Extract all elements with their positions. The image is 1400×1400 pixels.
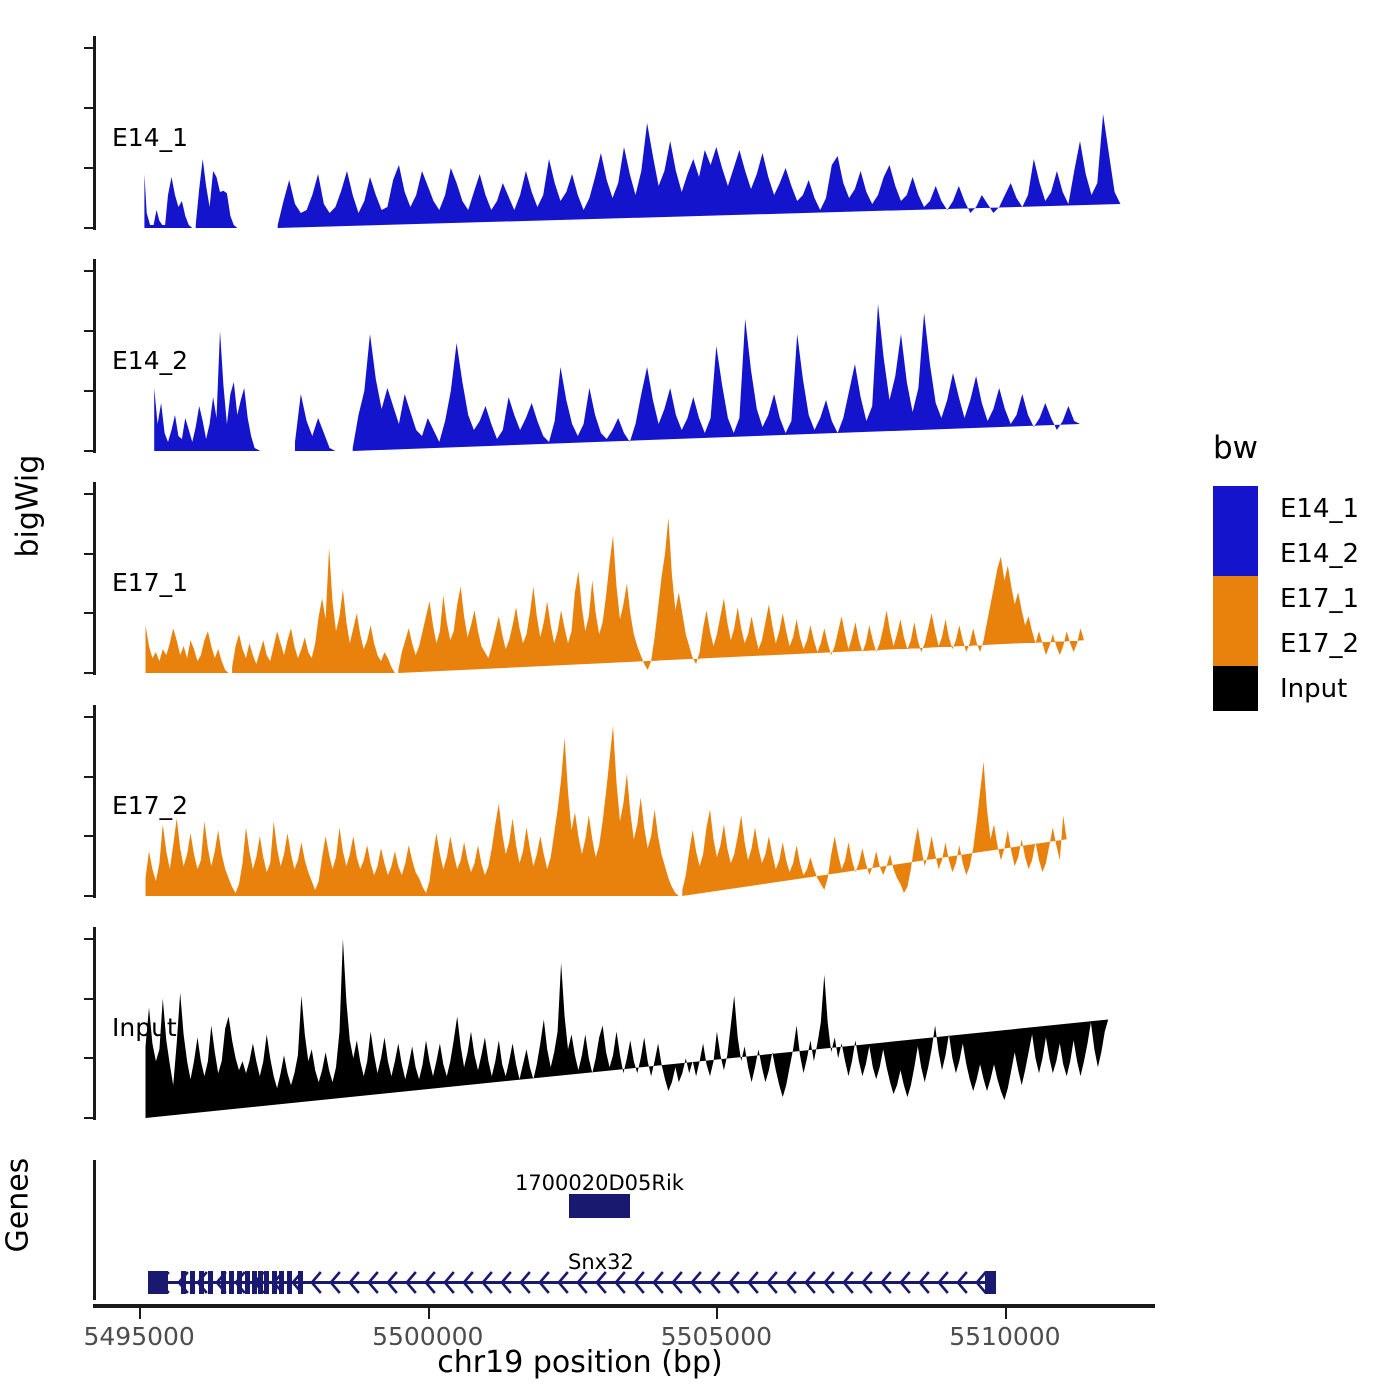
- legend-item-e14_2[interactable]: E14_2: [1213, 531, 1393, 576]
- x-tick-label: 5495000: [49, 1322, 229, 1351]
- gene-exon-snx32: [252, 1271, 257, 1294]
- y-axis-line: [93, 927, 96, 1120]
- y-tick: [84, 612, 93, 614]
- gene-exon-snx32: [237, 1271, 242, 1294]
- y-tick: [84, 1057, 93, 1059]
- y-tick: [84, 167, 93, 169]
- y-tick: [84, 330, 93, 332]
- legend-swatch-e17_2: [1213, 621, 1258, 666]
- y-axis-line: [93, 482, 96, 675]
- gene-exon-snx32: [229, 1271, 234, 1294]
- y-tick: [84, 1117, 93, 1119]
- y-tick: [84, 835, 93, 837]
- gene-exon-snx32: [208, 1271, 213, 1294]
- legend-label-e17_1: E17_1: [1280, 584, 1359, 614]
- y-tick: [84, 716, 93, 718]
- legend-items: E14_1E14_2E17_1E17_2Input: [1213, 486, 1393, 711]
- genes-axis-line: [93, 1160, 96, 1300]
- x-tick-label: 5500000: [338, 1322, 518, 1351]
- y-tick: [84, 47, 93, 49]
- track-label-e17_1: E17_1: [112, 568, 188, 597]
- legend-label-e14_1: E14_1: [1280, 494, 1359, 524]
- y-tick: [84, 450, 93, 452]
- legend-item-e17_1[interactable]: E17_1: [1213, 576, 1393, 621]
- y-tick: [84, 227, 93, 229]
- legend-label-e14_2: E14_2: [1280, 539, 1359, 569]
- y-tick: [84, 270, 93, 272]
- y-tick: [84, 107, 93, 109]
- genome-browser-figure: bigWig Genes chr19 position (bp) 3210E14…: [0, 0, 1400, 1400]
- y-tick: [84, 553, 93, 555]
- gene-exon-snx32: [181, 1271, 186, 1294]
- gene-exon-snx32: [264, 1271, 269, 1294]
- y-axis-line: [93, 705, 96, 898]
- gene-exon-snx32: [985, 1271, 997, 1294]
- y-axis-line: [93, 259, 96, 453]
- x-tick-label: 5510000: [915, 1322, 1095, 1351]
- legend-item-e17_2[interactable]: E17_2: [1213, 621, 1393, 666]
- gene-exon-snx32: [298, 1271, 303, 1294]
- track-label-e17_2: E17_2: [112, 791, 188, 820]
- legend-title: bw: [1213, 430, 1393, 466]
- legend-swatch-e14_2: [1213, 531, 1258, 576]
- track-label-input: Input: [112, 1013, 177, 1042]
- gene-exon-snx32: [199, 1271, 204, 1294]
- legend-swatch-e14_1: [1213, 486, 1258, 531]
- y-tick: [84, 998, 93, 1000]
- y-axis-label-bigwig: bigWig: [11, 518, 46, 558]
- gene-label-1700020d05rik: 1700020D05Rik: [515, 1171, 684, 1195]
- y-axis-line: [93, 36, 96, 230]
- gene-exon-snx32: [190, 1271, 195, 1294]
- y-tick: [84, 938, 93, 940]
- legend-item-input[interactable]: Input: [1213, 666, 1393, 711]
- x-tick-label: 5505000: [626, 1322, 806, 1351]
- y-tick: [84, 895, 93, 897]
- x-tick: [716, 1308, 718, 1319]
- gene-label-snx32: Snx32: [568, 1250, 634, 1274]
- y-tick: [84, 672, 93, 674]
- gene-exon-snx32: [287, 1271, 292, 1294]
- legend: bw E14_1E14_2E17_1E17_2Input: [1213, 430, 1393, 711]
- gene-exon-snx32: [258, 1271, 263, 1294]
- gene-feature-1700020d05rik[interactable]: [569, 1194, 630, 1218]
- gene-exon-snx32: [221, 1271, 226, 1294]
- y-tick: [84, 776, 93, 778]
- gene-exon-snx32: [245, 1271, 250, 1294]
- gene-exon-snx32: [148, 1271, 168, 1294]
- track-label-e14_2: E14_2: [112, 346, 188, 375]
- x-tick: [428, 1308, 430, 1319]
- legend-label-e17_2: E17_2: [1280, 629, 1359, 659]
- track-label-e14_1: E14_1: [112, 123, 188, 152]
- x-tick: [1005, 1308, 1007, 1319]
- legend-item-e14_1[interactable]: E14_1: [1213, 486, 1393, 531]
- legend-swatch-input: [1213, 666, 1258, 711]
- y-tick: [84, 493, 93, 495]
- gene-exon-snx32: [279, 1271, 284, 1294]
- y-tick: [84, 390, 93, 392]
- legend-swatch-e17_1: [1213, 576, 1258, 621]
- legend-label-input: Input: [1280, 674, 1347, 704]
- gene-exon-snx32: [272, 1271, 277, 1294]
- x-axis-line: [93, 1304, 1155, 1308]
- x-tick: [139, 1308, 141, 1319]
- y-axis-label-genes: Genes: [1, 1213, 36, 1253]
